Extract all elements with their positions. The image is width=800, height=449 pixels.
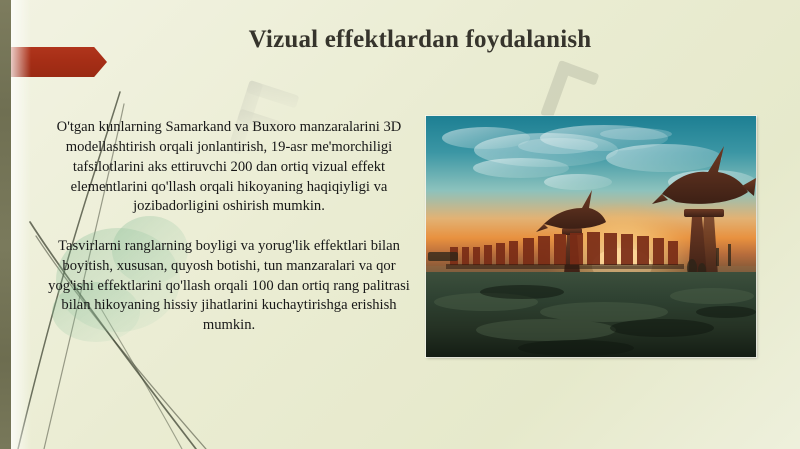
paragraph-2: Tasvirlarni ranglarning boyligi va yorug… (38, 237, 420, 336)
slide-photo (426, 116, 756, 357)
paragraph-1: O'tgan kunlarning Samarkand va Buxoro ma… (38, 118, 420, 217)
left-edge-highlight (11, 0, 31, 449)
sunset-monument-illustration (426, 116, 756, 357)
body-text-block: O'tgan kunlarning Samarkand va Buxoro ma… (38, 118, 420, 336)
page-title: Vizual effektlardan foydalanish (110, 26, 730, 54)
left-edge-strip (0, 0, 11, 449)
slide-canvas: Vizual effektlardan foydalanish O'tgan k… (0, 0, 800, 449)
